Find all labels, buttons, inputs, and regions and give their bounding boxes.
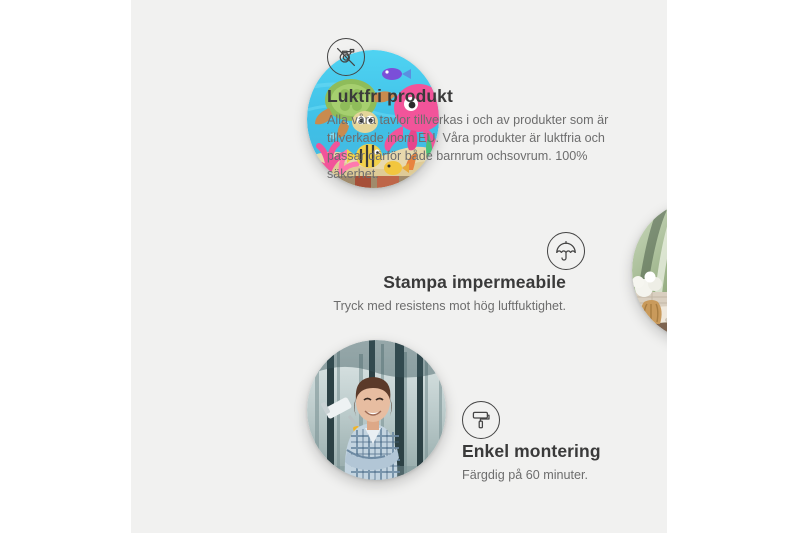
feature-waterproof-print-description: Tryck med resistens mot hög luftfuktighe… (216, 298, 566, 316)
feature-waterproof-print-title: Stampa impermeabile (216, 272, 566, 294)
umbrella-icon (547, 232, 585, 270)
product-info-banner: Luktfri produkt Alla våra tavlor tillver… (0, 0, 800, 533)
woman-with-paint-roller-forest-photo (307, 340, 446, 480)
painter-illustration (307, 340, 446, 480)
feature-odour-free-description: Alla våra tavlor tillverkas i och av pro… (327, 112, 623, 184)
feature-easy-mounting-text: Enkel montering Färgdig på 60 minuter. (462, 441, 667, 485)
photo-clip (632, 200, 667, 341)
feature-waterproof-print-text: Stampa impermeabile Tryck med resistens … (216, 272, 566, 316)
paint-roller-icon (462, 401, 500, 439)
feature-odour-free-text: Luktfri produkt Alla våra tavlor tillver… (327, 86, 623, 183)
photo-clip (307, 340, 446, 480)
bathroom-tropical-wallpaper-photo (632, 200, 667, 341)
no-odour-spray-bottle-icon (327, 38, 365, 76)
content-panel: Luktfri produkt Alla våra tavlor tillver… (131, 0, 667, 533)
feature-easy-mounting-description: Färgdig på 60 minuter. (462, 467, 667, 485)
feature-odour-free-title: Luktfri produkt (327, 86, 623, 108)
bathroom-illustration (632, 200, 667, 341)
feature-easy-mounting-title: Enkel montering (462, 441, 667, 463)
